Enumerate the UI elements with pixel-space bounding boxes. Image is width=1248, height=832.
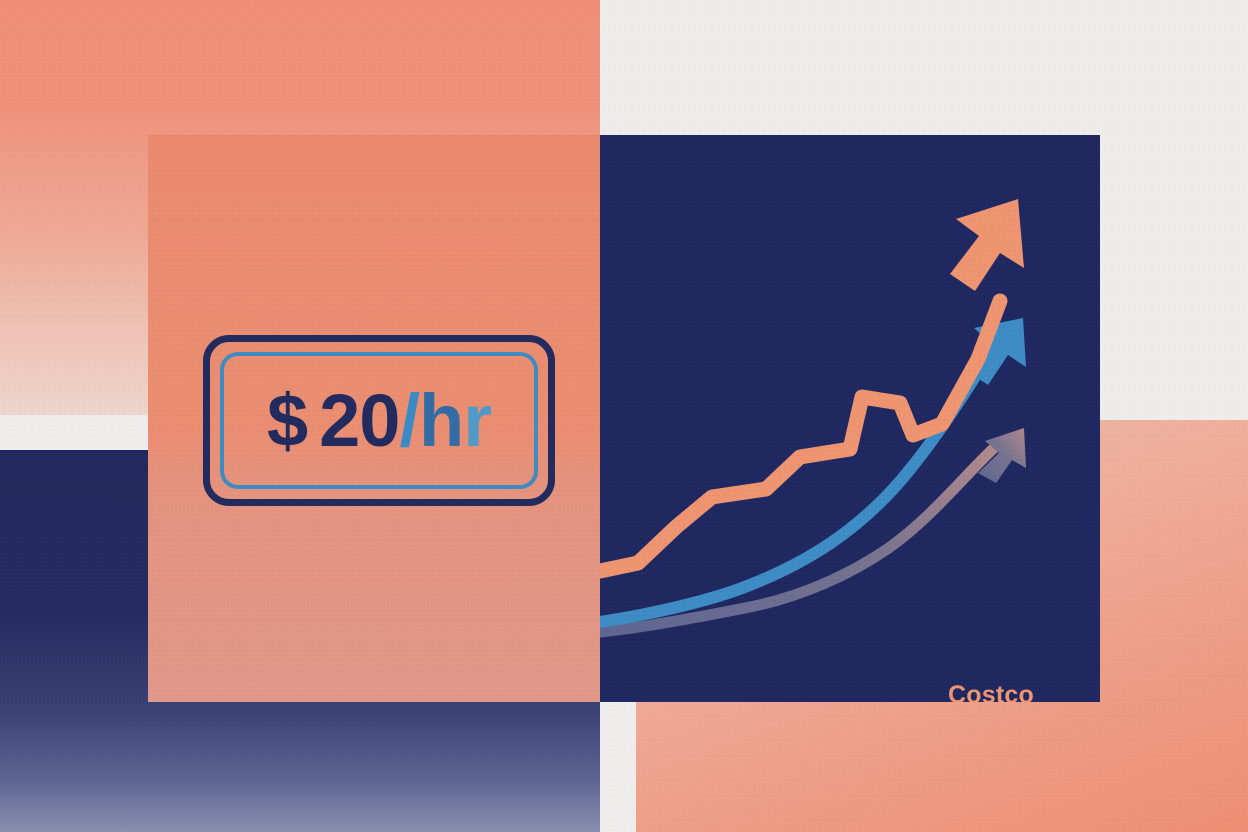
- infographic-canvas: $ 20 / h r Cos: [0, 0, 1248, 832]
- currency-symbol: $: [267, 384, 307, 458]
- hourly-wage-badge: $ 20 / h r: [203, 335, 555, 506]
- series-label-costco: Costco: [948, 681, 1034, 702]
- background-vertical-gutter: [600, 702, 636, 832]
- badge-text-group: $ 20 / h r: [210, 342, 548, 499]
- arrowhead-costco: [950, 199, 1024, 291]
- wage-unit-hour-h: h: [419, 384, 463, 458]
- wage-unit-hour-r: r: [463, 384, 491, 458]
- series-line-competitors: [600, 350, 992, 622]
- wage-unit-slash: /: [399, 384, 419, 458]
- wage-amount: 20: [319, 384, 399, 458]
- growth-chart-panel: Costco compeiitors: [600, 135, 1100, 702]
- growth-chart-svg: [600, 135, 1100, 702]
